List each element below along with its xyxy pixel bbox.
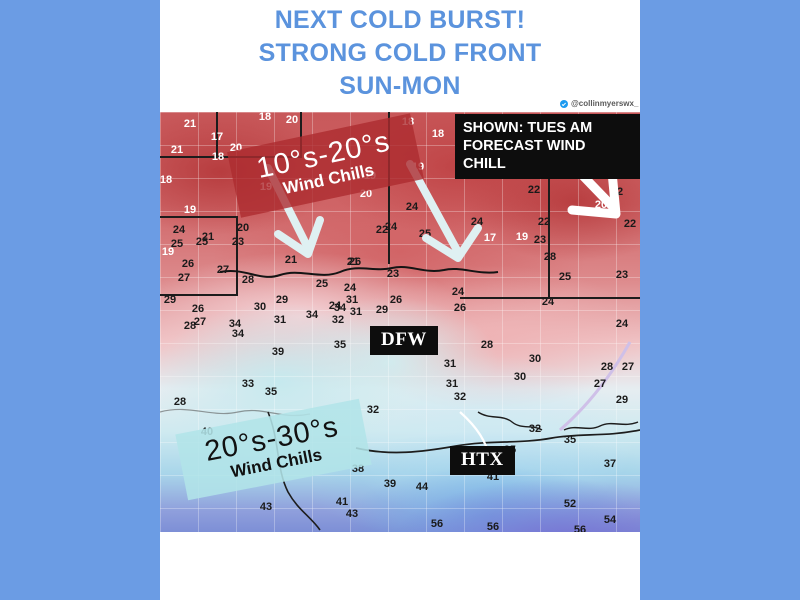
wind-chill-value: 44	[416, 481, 428, 493]
wind-chill-value: 35	[334, 339, 346, 351]
wind-chill-value: 21	[285, 254, 297, 266]
wind-chill-value: 30	[254, 301, 266, 313]
wind-chill-value: 29	[616, 394, 628, 406]
wind-chill-value: 19	[516, 231, 528, 243]
wind-chill-value: 24	[385, 221, 397, 233]
wind-chill-value: 26	[390, 294, 402, 306]
screenshot-root: NEXT COLD BURST! STRONG COLD FRONT SUN-M…	[0, 0, 800, 600]
wind-chill-value: 27	[217, 264, 229, 276]
headline-line-1: NEXT COLD BURST!	[160, 4, 640, 37]
wind-chill-value: 32	[529, 423, 541, 435]
wind-chill-value: 24	[542, 296, 554, 308]
wind-chill-value: 35	[265, 386, 277, 398]
wind-chill-value: 31	[274, 314, 286, 326]
caption-line-1: Temperatures will drop sharply back	[0, 534, 800, 565]
wind-chill-value: 43	[260, 501, 272, 513]
wind-chill-value: 29	[376, 304, 388, 316]
wind-chill-value: 24	[471, 216, 483, 228]
wind-chill-value: 52	[564, 498, 576, 510]
city-label-htx: HTX	[450, 446, 515, 475]
verified-badge-icon	[560, 100, 568, 108]
wind-chill-value: 26	[192, 303, 204, 315]
wind-chill-value: 25	[196, 236, 208, 248]
wind-chill-value: 34	[334, 302, 346, 314]
wind-chill-value: 28	[544, 251, 556, 263]
wind-chill-value: 21	[184, 118, 196, 130]
wind-chill-value: 18	[259, 112, 271, 123]
wind-chill-value: 28	[174, 396, 186, 408]
wind-chill-value: 35	[564, 434, 576, 446]
wind-chill-value: 26	[349, 256, 361, 268]
wind-chill-value: 56	[431, 518, 443, 530]
wind-chill-value: 17	[484, 232, 496, 244]
wind-chill-value: 27	[622, 361, 634, 373]
wind-chill-value: 31	[346, 294, 358, 306]
wind-chill-value: 25	[559, 271, 571, 283]
state-border-segment	[548, 164, 550, 299]
wind-chill-value: 32	[332, 314, 344, 326]
wind-chill-value: 39	[272, 346, 284, 358]
wind-chill-value: 34	[306, 309, 318, 321]
wind-chill-value: 17	[211, 131, 223, 143]
wind-chill-value: 37	[604, 458, 616, 470]
wind-chill-value: 31	[444, 358, 456, 370]
wind-chill-value: 29	[164, 294, 176, 306]
wind-chill-value: 34	[232, 328, 244, 340]
wind-chill-value: 56	[487, 521, 499, 532]
wind-chill-value: 24	[173, 224, 185, 236]
wind-chill-value: 29	[276, 294, 288, 306]
wind-chill-value: 41	[336, 496, 348, 508]
wind-chill-value: 54	[604, 514, 616, 526]
wind-chill-value: 22	[624, 218, 636, 230]
wind-chill-value: 32	[367, 404, 379, 416]
wind-chill-value: 25	[419, 228, 431, 240]
wind-chill-value: 20	[237, 222, 249, 234]
wind-chill-value: 24	[452, 286, 464, 298]
wind-chill-value: 39	[384, 478, 396, 490]
wind-chill-value: 23	[616, 269, 628, 281]
caption-line-2: to cold AM's and near normal PM's.	[0, 565, 800, 596]
shown-label-line-2: FORECAST WIND CHILL	[463, 137, 632, 173]
caption: Temperatures will drop sharply back to c…	[0, 534, 800, 596]
author-handle-text: @collinmyerswx_	[571, 99, 638, 108]
wind-chill-value: 27	[194, 316, 206, 328]
wind-chill-value: 26	[182, 258, 194, 270]
wind-chill-value: 23	[387, 268, 399, 280]
wind-chill-value: 43	[346, 508, 358, 520]
shown-label-line-1: SHOWN: TUES AM	[463, 119, 592, 137]
author-handle[interactable]: @collinmyerswx_	[560, 99, 638, 108]
wind-chill-value: 31	[446, 378, 458, 390]
wind-chill-value: 19	[184, 204, 196, 216]
wind-chill-value: 24	[406, 201, 418, 213]
wind-chill-value: 20	[595, 199, 607, 211]
city-label-dfw-text: DFW	[381, 329, 427, 351]
wind-chill-value: 28	[601, 361, 613, 373]
wind-chill-value: 31	[350, 306, 362, 318]
wind-chill-value: 21	[171, 144, 183, 156]
city-label-dfw: DFW	[370, 326, 438, 355]
wind-chill-value: 18	[160, 174, 172, 186]
wind-chill-value: 22	[611, 186, 623, 198]
wind-chill-value: 23	[232, 236, 244, 248]
wind-chill-value: 27	[178, 272, 190, 284]
wind-chill-value: 27	[594, 378, 606, 390]
wind-chill-value: 24	[344, 282, 356, 294]
wind-chill-value: 18	[432, 128, 444, 140]
wind-chill-value: 33	[242, 378, 254, 390]
headline: NEXT COLD BURST! STRONG COLD FRONT SUN-M…	[160, 4, 640, 103]
wind-chill-value: 26	[454, 302, 466, 314]
city-label-htx-text: HTX	[461, 449, 504, 471]
wind-chill-value: 25	[171, 238, 183, 250]
wind-chill-value: 56	[574, 524, 586, 532]
wind-chill-value: 20	[286, 114, 298, 126]
wind-chill-value: 22	[528, 184, 540, 196]
wind-chill-value: 28	[242, 274, 254, 286]
wind-chill-value: 23	[534, 234, 546, 246]
wind-chill-value: 25	[316, 278, 328, 290]
wind-chill-value: 28	[481, 339, 493, 351]
wind-chill-value: 32	[454, 391, 466, 403]
headline-line-2: STRONG COLD FRONT	[160, 37, 640, 70]
shown-forecast-label: SHOWN: TUES AM FORECAST WIND CHILL	[455, 114, 640, 179]
wind-chill-value: 30	[514, 371, 526, 383]
forecast-map[interactable]: 2120181718181521182022221818191919191920…	[160, 112, 640, 532]
wind-chill-value: 18	[212, 151, 224, 163]
state-border-segment	[160, 216, 238, 218]
wind-chill-value: 30	[529, 353, 541, 365]
wind-chill-value: 22	[538, 216, 550, 228]
wind-chill-value: 24	[616, 318, 628, 330]
